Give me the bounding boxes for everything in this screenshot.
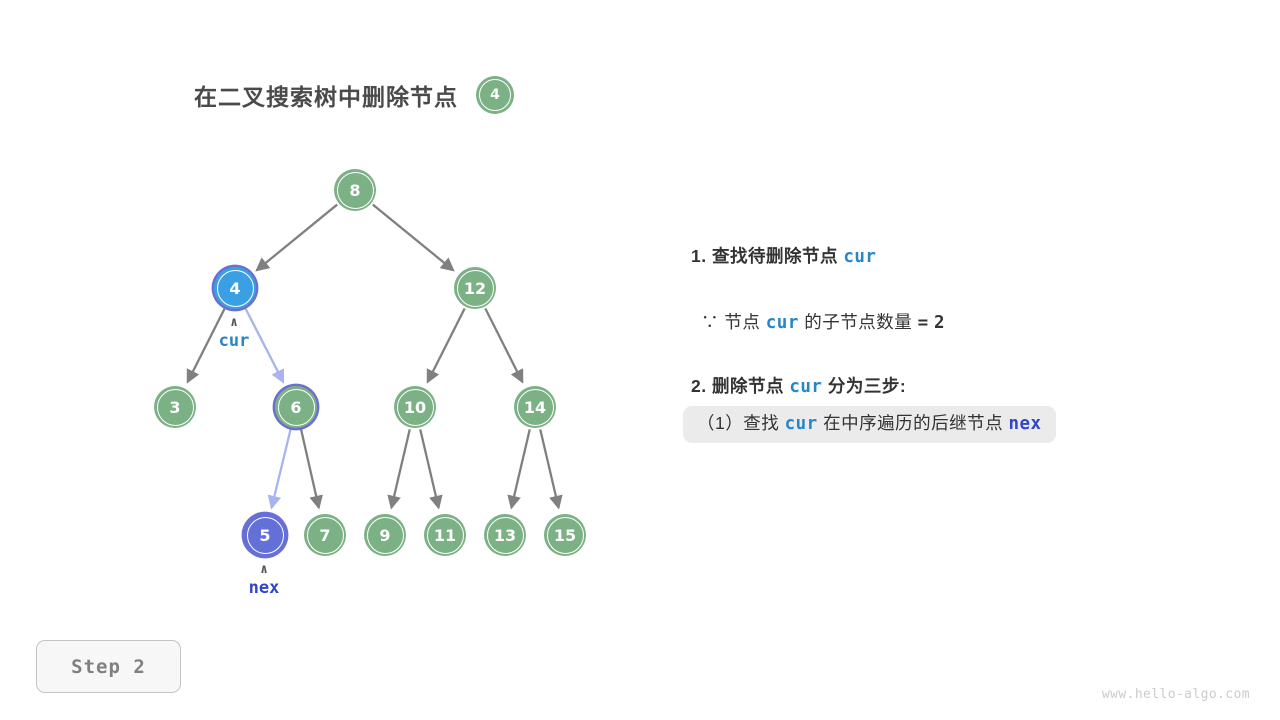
pointer-label-nex: ∧nex [229,565,299,598]
line4-text-b: 在中序遍历的后继节点 [823,413,1003,433]
tree-edge [391,429,409,507]
tree-edge [428,309,465,382]
line2-equals: = [918,313,929,333]
line2-text-b: 的 [804,312,822,332]
line3-text-b: 分为三步: [828,376,906,396]
tree-edge [257,205,337,271]
watermark: www.hello-algo.com [1102,687,1250,702]
line4-code-nex: nex [1008,414,1041,434]
tree-edge [420,429,438,507]
tree-node-8[interactable]: 8 [334,169,376,211]
tree-edge [301,429,319,507]
tree-node-11[interactable]: 11 [424,514,466,556]
tree-edge [485,309,522,382]
tree-node-3[interactable]: 3 [154,386,196,428]
tree-node-9[interactable]: 9 [364,514,406,556]
pointer-text: nex [249,578,280,598]
pointer-label-cur: ∧cur [199,318,269,351]
tree-edge [540,429,558,507]
tree-node-10[interactable]: 10 [394,386,436,428]
line2-text-c: 子节点数量 [822,312,912,332]
line2-value: 2 [934,313,945,333]
line3-text-a: 删除节点 [712,376,784,396]
panel-line-4: （1）查找 cur 在中序遍历的后继节点 nex [697,413,1042,435]
line2-code-cur: cur [766,313,799,333]
edge-layer [188,205,559,508]
tree-node-5[interactable]: 5 [244,514,286,556]
line1-code-cur: cur [843,247,876,267]
panel-line-1: 1. 查找待删除节点 cur [691,246,1223,268]
line3-number: 2. [691,376,707,396]
line3-code-cur: cur [789,377,822,397]
panel-line-3: 2. 删除节点 cur 分为三步: [691,376,1223,398]
caret-up-icon: ∧ [260,565,268,575]
tree-edge [511,429,529,507]
tree-node-7[interactable]: 7 [304,514,346,556]
tree-node-6[interactable]: 6 [275,386,317,428]
explanation-panel: 1. 查找待删除节点 cur ∵ 节点 cur 的子节点数量 = 2 2. 删除… [683,246,1223,443]
line4-text-a: 查找 [743,413,779,433]
tree-node-12[interactable]: 12 [454,267,496,309]
tree-node-14[interactable]: 14 [514,386,556,428]
tree-node-13[interactable]: 13 [484,514,526,556]
line4-code-cur: cur [785,414,818,434]
panel-line-2: ∵ 节点 cur 的子节点数量 = 2 [701,312,1223,334]
caret-up-icon: ∧ [230,318,238,328]
tree-node-15[interactable]: 15 [544,514,586,556]
line2-text-a: 节点 [724,312,760,332]
tree-edge [272,429,291,507]
because-symbol: ∵ [701,312,719,332]
line4-number: （1） [697,413,743,433]
line1-number: 1. [691,246,707,266]
step-indicator: Step 2 [36,640,181,693]
tree-edge [373,205,453,271]
line1-text: 查找待删除节点 [712,246,838,266]
tree-node-4[interactable]: 4 [214,267,256,309]
pointer-text: cur [219,331,250,351]
panel-line-4-highlight: （1）查找 cur 在中序遍历的后继节点 nex [683,406,1056,443]
